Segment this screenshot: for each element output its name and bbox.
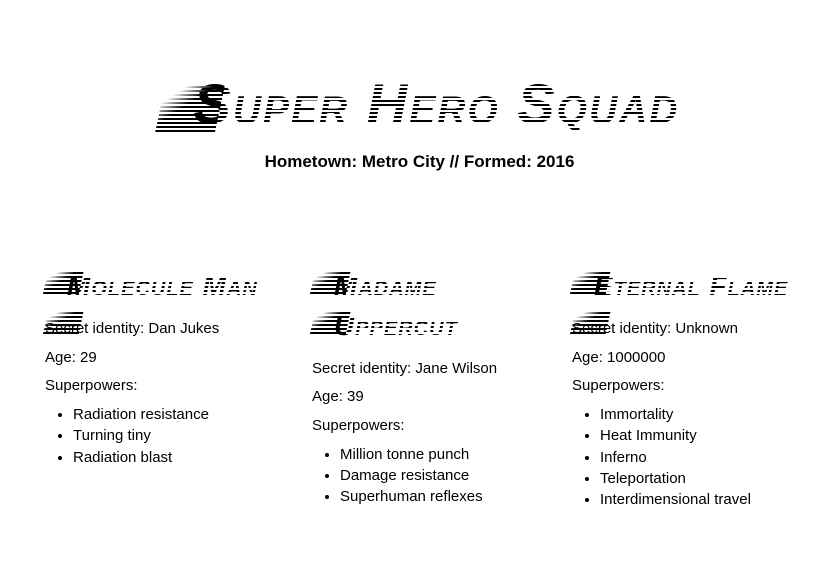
speed-lines-decoration — [42, 312, 83, 336]
list-item: Million tonne punch — [340, 444, 534, 465]
list-item: Radiation resistance — [73, 404, 267, 425]
hero-name: Madame Uppercut — [312, 266, 534, 346]
hero-powers-label: Superpowers: — [45, 375, 267, 397]
list-item: Inferno — [600, 447, 801, 468]
hero-powers-list: Million tonne punch Damage resistance Su… — [312, 444, 534, 508]
list-item: Interdimensional travel — [600, 489, 801, 510]
hero-columns: Molecule Man Secret identity: Dan Jukes … — [0, 266, 839, 510]
hero-powers-list: Radiation resistance Turning tiny Radiat… — [45, 404, 267, 468]
hero-age: Age: 29 — [45, 347, 267, 369]
hero-name: Eternal Flame — [572, 266, 801, 306]
hero-card: Madame Uppercut Secret identity: Jane Wi… — [267, 266, 534, 510]
list-item: Damage resistance — [340, 465, 534, 486]
page-subtitle: Hometown: Metro City // Formed: 2016 — [0, 152, 839, 172]
hero-powers-label: Superpowers: — [312, 415, 534, 437]
page-title: Super Hero Squad — [160, 76, 680, 132]
list-item: Turning tiny — [73, 425, 267, 446]
hero-age: Age: 1000000 — [572, 347, 801, 369]
hero-age: Age: 39 — [312, 386, 534, 408]
hero-name-text: Madame Uppercut — [334, 270, 458, 341]
hero-card: Molecule Man Secret identity: Dan Jukes … — [0, 266, 267, 510]
hero-card: Eternal Flame Secret identity: Unknown A… — [534, 266, 801, 510]
hero-name: Molecule Man — [45, 266, 267, 306]
hero-powers-label: Superpowers: — [572, 375, 801, 397]
speed-lines-decoration — [569, 312, 610, 336]
hero-secret-identity: Secret identity: Jane Wilson — [312, 358, 534, 380]
hero-name-text: Molecule Man — [67, 270, 258, 301]
hero-name-text: Eternal Flame — [594, 270, 788, 301]
list-item: Teleportation — [600, 468, 801, 489]
list-item: Radiation blast — [73, 447, 267, 468]
hero-powers-list: Immortality Heat Immunity Inferno Telepo… — [572, 404, 801, 510]
page-title-text: Super Hero Squad — [194, 76, 680, 132]
list-item: Heat Immunity — [600, 425, 801, 446]
page-header: Super Hero Squad — [0, 38, 839, 110]
list-item: Superhuman reflexes — [340, 486, 534, 507]
list-item: Immortality — [600, 404, 801, 425]
